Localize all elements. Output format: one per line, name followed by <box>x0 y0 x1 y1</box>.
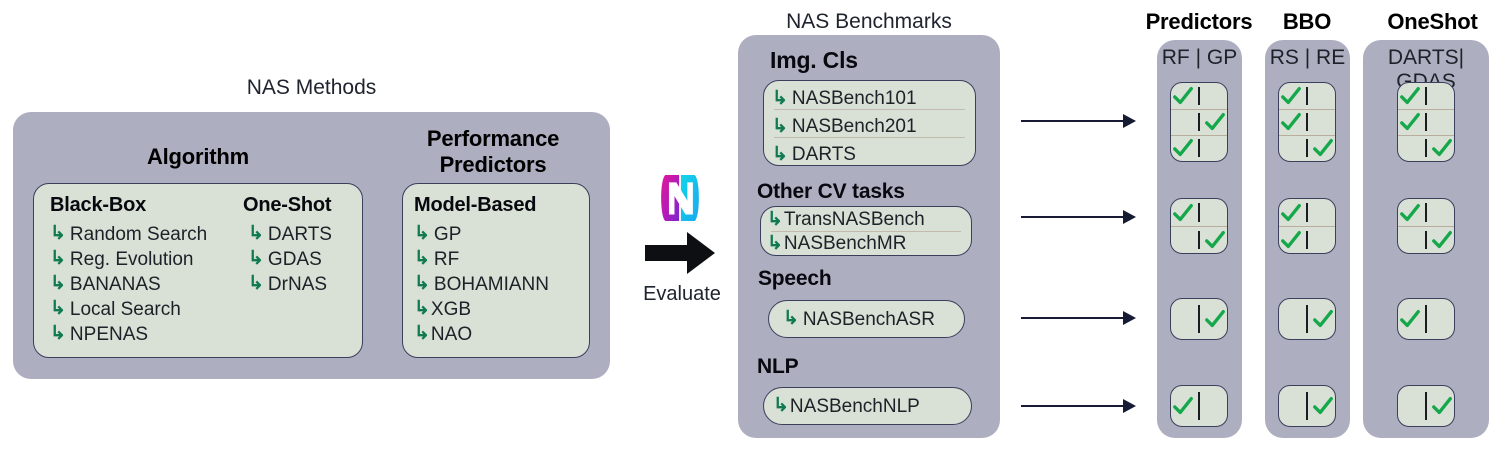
check-icon <box>1172 202 1194 224</box>
result-column-header-bbo: RS | RE <box>1265 46 1350 70</box>
result-cell-predictors-row4[interactable] <box>1170 385 1228 427</box>
benchmark-group-heading-img-cls: Img. Cls <box>770 47 858 74</box>
check-icon <box>1312 137 1334 159</box>
algorithm-heading: Algorithm <box>33 144 363 170</box>
arrow-bullet-icon: ↳ <box>414 324 430 343</box>
model-based-list: ↳GP ↳RF ↳BOHAMIANN ↳XGB ↳NAO <box>414 222 549 347</box>
check-icon <box>1280 111 1302 133</box>
cell-divider <box>1306 392 1308 421</box>
arrow-bullet-icon: ↳ <box>414 249 430 268</box>
benchmark-list-speech: ↳NASBenchASR <box>783 308 935 331</box>
arrow-bullet-icon: ↳ <box>50 324 66 343</box>
check-icon <box>1280 229 1302 251</box>
check-icon <box>1204 111 1226 133</box>
benchmark-group-heading-other-cv: Other CV tasks <box>757 180 905 204</box>
result-cell-bbo-row4[interactable] <box>1278 385 1336 427</box>
list-item: ↳RF <box>414 247 549 272</box>
result-cell-predictors-row1[interactable] <box>1170 82 1228 162</box>
list-item: ↳BANANAS <box>50 272 207 297</box>
arrow-bullet-icon: ↳ <box>783 309 799 328</box>
result-cell-bbo-row2[interactable] <box>1278 198 1336 254</box>
one-shot-list: ↳DARTS ↳GDAS ↳DrNAS <box>248 222 332 297</box>
check-icon <box>1312 395 1334 417</box>
check-icon <box>1431 229 1453 251</box>
check-icon <box>1204 229 1226 251</box>
check-icon <box>1399 85 1421 107</box>
list-item: ↳BOHAMIANN <box>414 272 549 297</box>
result-cell-oneshot-row2[interactable] <box>1397 198 1455 254</box>
cell-divider <box>1425 203 1427 222</box>
check-icon <box>1312 308 1334 330</box>
benchmark-group-heading-speech: Speech <box>758 267 832 291</box>
benchmark-list-other-cv: ↳TransNASBench ↳NASBenchMR <box>767 208 925 256</box>
benchmark-group-heading-nlp: NLP <box>757 355 798 379</box>
arrow-bullet-icon: ↳ <box>772 117 788 136</box>
cell-divider <box>1425 87 1427 106</box>
arrow-bullet-icon: ↳ <box>248 249 264 268</box>
model-based-heading: Model-Based <box>414 194 536 217</box>
cell-divider <box>1425 392 1427 421</box>
cell-divider <box>1306 231 1308 250</box>
arrow-bullet-icon: ↳ <box>50 249 66 268</box>
list-item: ↳NASBench101 <box>772 85 917 113</box>
arrow-bullet-icon: ↳ <box>50 224 66 243</box>
arrow-bullet-icon: ↳ <box>772 145 788 164</box>
cell-divider <box>1198 203 1200 222</box>
check-icon <box>1172 395 1194 417</box>
black-box-heading: Black-Box <box>50 194 146 217</box>
cell-divider <box>1306 113 1308 131</box>
benchmark-list-nlp: ↳NASBenchNLP <box>773 395 920 418</box>
nas-benchmarks-caption: NAS Benchmarks <box>738 10 1000 34</box>
arrow-bullet-icon: ↳ <box>767 210 783 229</box>
cell-divider <box>1198 113 1200 131</box>
black-box-list: ↳Random Search ↳Reg. Evolution ↳BANANAS … <box>50 222 207 347</box>
list-item: ↳DARTS <box>772 141 917 169</box>
evaluate-label: Evaluate <box>636 283 728 306</box>
result-column-title-bbo: BBO <box>1262 9 1352 35</box>
arrow-bullet-icon: ↳ <box>248 224 264 243</box>
list-item: ↳DARTS <box>248 222 332 247</box>
one-shot-heading: One-Shot <box>243 194 331 217</box>
list-item: ↳Random Search <box>50 222 207 247</box>
cell-divider <box>1425 231 1427 250</box>
list-item: ↳GP <box>414 222 549 247</box>
arrow-bullet-icon: ↳ <box>773 396 789 415</box>
result-cell-bbo-row1[interactable] <box>1278 82 1336 162</box>
benchmark-list-img-cls: ↳NASBench101 ↳NASBench201 ↳DARTS <box>772 85 917 169</box>
list-item: ↳XGB <box>414 297 549 322</box>
list-item: ↳NASBenchASR <box>783 308 935 331</box>
arrow-bullet-icon: ↳ <box>414 224 430 243</box>
check-icon <box>1399 111 1421 133</box>
check-icon <box>1280 202 1302 224</box>
arrow-bullet-icon: ↳ <box>772 89 788 108</box>
result-column-header-predictors: RF | GP <box>1157 46 1242 70</box>
list-item: ↳NPENAS <box>50 322 207 347</box>
cell-divider <box>1198 392 1200 421</box>
check-icon <box>1399 308 1421 330</box>
check-icon <box>1431 137 1453 159</box>
result-column-title-predictors: Predictors <box>1143 9 1255 35</box>
result-cell-predictors-row2[interactable] <box>1170 198 1228 254</box>
result-column-title-oneshot: OneShot <box>1375 9 1490 35</box>
result-cell-bbo-row3[interactable] <box>1278 298 1336 340</box>
arrow-bullet-icon: ↳ <box>248 274 264 293</box>
result-cell-oneshot-row3[interactable] <box>1397 298 1455 340</box>
list-item: ↳GDAS <box>248 247 332 272</box>
result-cell-oneshot-row1[interactable] <box>1397 82 1455 162</box>
result-cell-oneshot-row4[interactable] <box>1397 385 1455 427</box>
cell-divider <box>1306 139 1308 157</box>
nas-methods-caption: NAS Methods <box>13 76 610 100</box>
arrow-bullet-icon: ↳ <box>414 299 430 318</box>
arrow-bullet-icon: ↳ <box>414 274 430 293</box>
cell-divider <box>1306 305 1308 334</box>
naslib-logo <box>657 172 703 224</box>
cell-divider <box>1306 203 1308 222</box>
performance-predictors-heading-line1: Performance <box>393 126 593 152</box>
list-item: ↳NASBenchNLP <box>773 395 920 418</box>
check-icon <box>1172 137 1194 159</box>
performance-predictors-heading-line2: Predictors <box>393 152 593 178</box>
list-item: ↳Reg. Evolution <box>50 247 207 272</box>
check-icon <box>1280 85 1302 107</box>
check-icon <box>1399 202 1421 224</box>
cell-divider <box>1198 139 1200 157</box>
list-item: ↳Local Search <box>50 297 207 322</box>
check-icon <box>1431 395 1453 417</box>
arrow-bullet-icon: ↳ <box>50 299 66 318</box>
check-icon <box>1172 85 1194 107</box>
cell-divider <box>1306 87 1308 106</box>
list-item: ↳NAO <box>414 322 549 347</box>
list-item: ↳NASBenchMR <box>767 232 925 256</box>
arrow-bullet-icon: ↳ <box>767 234 783 253</box>
arrow-bullet-icon: ↳ <box>50 274 66 293</box>
cell-divider <box>1198 231 1200 250</box>
result-cell-predictors-row3[interactable] <box>1170 298 1228 340</box>
cell-divider <box>1198 87 1200 106</box>
list-item: ↳DrNAS <box>248 272 332 297</box>
cell-divider <box>1198 305 1200 334</box>
check-icon <box>1204 308 1226 330</box>
evaluate-arrow-icon <box>645 230 717 281</box>
list-item: ↳TransNASBench <box>767 208 925 232</box>
cell-divider <box>1425 305 1427 334</box>
cell-divider <box>1425 139 1427 157</box>
cell-divider <box>1425 113 1427 131</box>
list-item: ↳NASBench201 <box>772 113 917 141</box>
